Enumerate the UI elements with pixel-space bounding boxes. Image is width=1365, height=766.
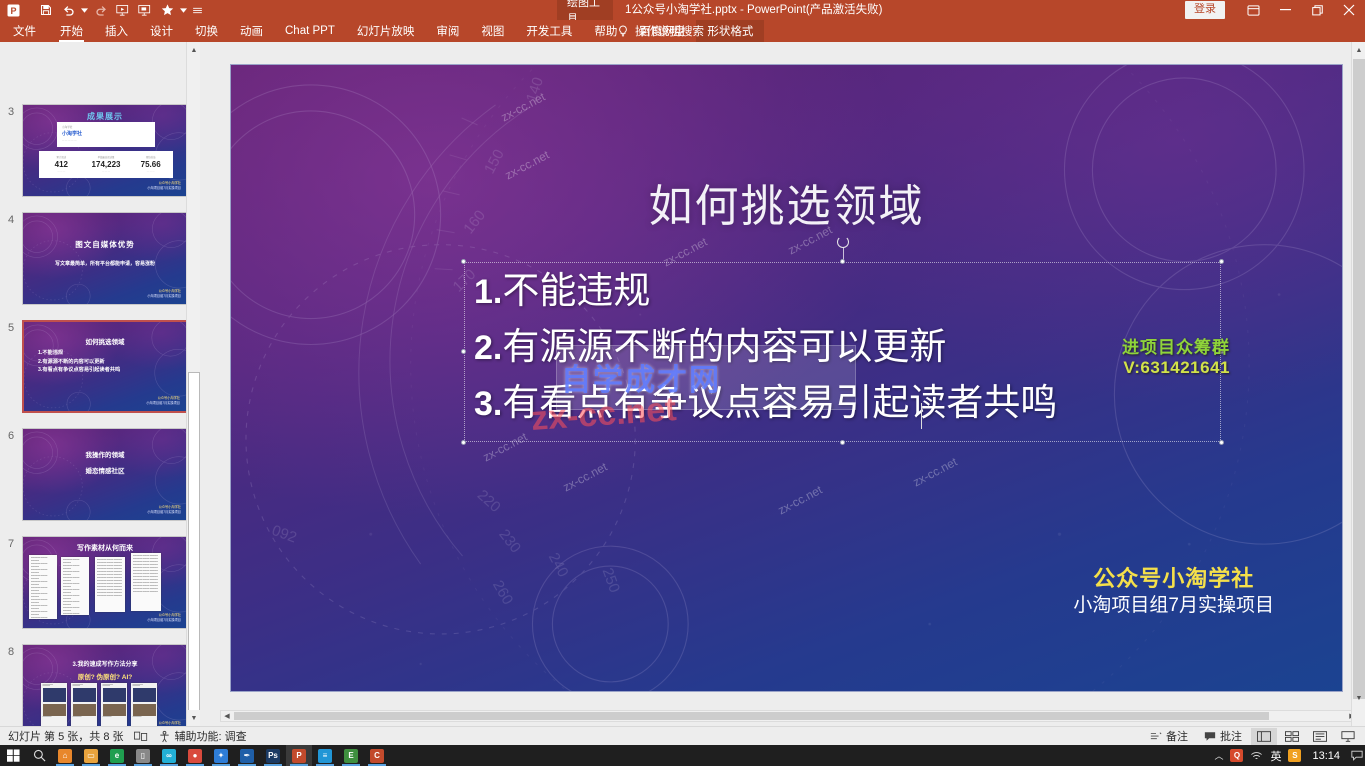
taskbar-item-photoshop-blue[interactable]: ✒ — [234, 745, 260, 766]
powerpoint-logo-icon: P — [6, 3, 21, 18]
svg-text:260: 260 — [489, 578, 516, 608]
slide-number: 5 — [0, 320, 22, 413]
thumb-title: 成果展示 — [23, 111, 187, 122]
favorite-dropdown-icon[interactable] — [179, 1, 188, 19]
taskbar-item-powerpoint[interactable]: P — [286, 745, 312, 766]
thumb-phone: ▬▬▬▬▬▬▬▬▬▬▬▬▬▬▬▬▬▬ — [101, 683, 127, 726]
slide-thumbnail-6[interactable]: 6我操作的领域婚恋情感社区公众号小淘学社小淘项目组7月实操项目 — [0, 428, 200, 521]
slide-bullet-number: 2. — [474, 329, 502, 367]
taskbar-item-browser-360[interactable]: ∞ — [156, 745, 182, 766]
slide-thumbnail-3[interactable]: 3成果展示小淘学社小淘学社— — — — —累计阅读412— — —单篇最高阅读… — [0, 104, 200, 197]
slide-edit-stage: 140 150 160 170 220 230 240 250 092 260 — [214, 42, 1365, 726]
thumb-line-2: 婚恋情感社区 — [23, 465, 187, 475]
thumb-title: 写作素材从何而来 — [23, 543, 187, 553]
slide-thumbnail-8[interactable]: 83.我的速成写作方法分享原创? 伪原创? AI?▬▬▬▬▬▬▬▬▬▬▬▬▬▬▬… — [0, 644, 200, 726]
status-bar-right: 备注 批注 — [1143, 727, 1361, 745]
thumb-brand: 公众号小淘学社小淘项目组7月实操项目 — [147, 289, 181, 299]
ribbon-display-options-icon[interactable] — [1237, 0, 1269, 20]
thumb-card: 小淘学社小淘学社— — — — — — [57, 122, 155, 147]
resize-handle-w[interactable] — [461, 349, 466, 354]
taskbar-item-edge[interactable]: e — [104, 745, 130, 766]
thumb-phone: ▬▬▬▬▬▬▬▬▬▬▬▬▬▬▬▬▬▬ — [71, 683, 97, 726]
watermark-promo-line2: V:631421641 — [1123, 358, 1230, 378]
status-bar-left: 幻灯片 第 5 张，共 8 张 辅助功能: 调查 — [0, 728, 247, 744]
minimize-icon[interactable] — [1269, 0, 1301, 20]
slideshow-view-button[interactable] — [1335, 728, 1361, 745]
thumbnail-scrollbar-thumb[interactable] — [188, 372, 200, 717]
sogou-icon[interactable]: S — [1288, 749, 1301, 762]
slide-number: 3 — [0, 104, 22, 197]
resize-handle-sw[interactable] — [461, 440, 466, 445]
scroll-down-arrow-icon[interactable]: ▼ — [187, 710, 200, 726]
ribbon-tab-7[interactable]: 幻灯片放映 — [346, 20, 426, 42]
comments-label: 批注 — [1220, 728, 1242, 744]
svg-text:092: 092 — [270, 522, 299, 547]
brand-line-2: 小淘项目组7月实操项目 — [1073, 593, 1274, 619]
brand-line-1: 公众号小淘学社 — [1073, 564, 1274, 594]
slide-number: 7 — [0, 536, 22, 629]
ribbon-tab-label: 视图 — [481, 23, 504, 39]
taskbar-item-security-icon: ⌂ — [58, 749, 72, 763]
thumb-phone: ▬▬▬▬▬▬▬▬▬▬▬▬▬▬▬▬▬▬ — [131, 683, 157, 726]
taskbar-item-wechat-dev[interactable]: ✦ — [208, 745, 234, 766]
undo-icon[interactable] — [58, 1, 78, 19]
search-icon[interactable] — [26, 745, 52, 766]
thumb-subtitle: 原创? 伪原创? AI? — [23, 671, 187, 681]
thumb-bullets: 1.不能违规2.有源源不断的内容可以更新3.有看点有争议点容易引起读者共鸣 — [38, 349, 120, 375]
slide-number: 8 — [0, 644, 22, 726]
horizontal-scrollbar-thumb[interactable] — [234, 712, 1269, 720]
taskbar-item-wps-doc[interactable]: C — [364, 745, 390, 766]
powerpoint-window: P — [0, 0, 1365, 766]
undo-dropdown-icon[interactable] — [80, 1, 89, 19]
ribbon-tab-label: 幻灯片放映 — [357, 23, 415, 39]
slide-number: 6 — [0, 428, 22, 521]
document-title: 1公众号小淘学社.pptx - PowerPoint(产品激活失败) — [625, 0, 883, 20]
ribbon-tab-4[interactable]: 切换 — [184, 20, 229, 42]
tell-me-search[interactable]: 操作说明搜索 — [617, 20, 704, 42]
ribbon-tab-label: 动画 — [240, 23, 263, 39]
slide-thumbnail-preview[interactable]: 3.我的速成写作方法分享原创? 伪原创? AI?▬▬▬▬▬▬▬▬▬▬▬▬▬▬▬▬… — [22, 644, 188, 726]
thumb-title: 如何挑选领域 — [24, 336, 186, 346]
ribbon-tab-0[interactable]: 文件 — [0, 20, 49, 42]
normal-view-button[interactable] — [1251, 728, 1277, 745]
close-icon[interactable] — [1333, 0, 1365, 20]
slideshow-from-current-icon[interactable] — [135, 1, 155, 19]
thumb-brand: 公众号小淘学社小淘项目组7月实操项目 — [147, 613, 181, 623]
notes-label: 备注 — [1166, 728, 1188, 744]
ribbon-tab-5[interactable]: 动画 — [229, 20, 274, 42]
slide-thumbnail-preview[interactable]: 写作素材从何而来▬▬▬▬▬▬ ▬▬▬▬ ▬▬▬▬▬▬▬▬▬▬▬ ▬▬▬▬ ▬▬▬… — [22, 536, 188, 629]
slide-scroll-up-icon[interactable]: ▲ — [1352, 42, 1365, 58]
thumb-stats-row: 累计阅读412— — —单篇最高阅读量174,223— — —预估收益75.66… — [39, 151, 173, 178]
ribbon-tab-3[interactable]: 设计 — [139, 20, 184, 42]
taskbar-item-wechat-dev-icon: ✦ — [214, 749, 228, 763]
title-bar: P — [0, 0, 1365, 20]
taskbar-item-security[interactable]: ⌂ — [52, 745, 78, 766]
accessibility-checker[interactable]: 辅助功能: 调查 — [158, 728, 247, 744]
ribbon-tab-1[interactable]: 开始 — [49, 20, 94, 42]
svg-text:P: P — [10, 6, 16, 16]
thumb-document: ▬▬▬▬▬▬ ▬▬▬▬ ▬▬▬▬▬▬▬▬▬▬▬ ▬▬▬▬ ▬▬▬▬▬▬▬▬▬▬▬… — [61, 557, 89, 615]
thumb-bullet: 3.有看点有争议点容易引起读者共鸣 — [38, 366, 120, 375]
svg-text:250: 250 — [599, 566, 624, 595]
slide-bullet-number: 3. — [474, 385, 502, 423]
ribbon-tab-label: 切换 — [195, 23, 218, 39]
slide-counter[interactable]: 幻灯片 第 5 张，共 8 张 — [8, 728, 124, 744]
ribbon-tab-label: 开发工具 — [526, 23, 572, 39]
text-cursor — [921, 403, 922, 429]
taskbar-item-photoshop-blue-icon: ✒ — [240, 749, 254, 763]
language-icon[interactable] — [134, 731, 148, 742]
taskbar-item-wps-writer-icon: ≡ — [318, 749, 332, 763]
tell-me-search-label: 操作说明搜索 — [635, 23, 704, 39]
slide-thumbnail-7[interactable]: 7写作素材从何而来▬▬▬▬▬▬ ▬▬▬▬ ▬▬▬▬▬▬▬▬▬▬▬ ▬▬▬▬ ▬▬… — [0, 536, 200, 629]
customize-quick-access-toolbar-icon[interactable] — [190, 1, 204, 19]
clock[interactable]: 13:14 — [1308, 750, 1344, 762]
pane-splitter[interactable] — [200, 42, 214, 726]
taskbar-item-usb-drive-icon: ▯ — [136, 749, 150, 763]
ribbon-tab-label: 设计 — [150, 23, 173, 39]
taskbar-item-chrome[interactable]: ● — [182, 745, 208, 766]
ribbon-tab-label: 开始 — [60, 23, 83, 39]
network-icon[interactable] — [1250, 750, 1263, 761]
thumb-document: ▬▬▬▬▬▬ ▬▬▬▬ ▬▬▬▬▬▬▬▬▬▬▬ ▬▬▬▬ ▬▬▬▬▬▬▬▬▬▬▬… — [95, 557, 125, 612]
ribbon-tab-label: 审阅 — [436, 23, 459, 39]
taskbar-item-photoshop[interactable]: Ps — [260, 745, 286, 766]
slide-title-text[interactable]: 如何挑选领域 — [231, 170, 1342, 234]
taskbar-item-photoshop-icon: Ps — [266, 749, 280, 763]
slide-bullet-number: 1. — [474, 273, 502, 311]
taskbar-item-powerpoint-icon: P — [292, 749, 306, 763]
ribbon-tab-6[interactable]: Chat PPT — [274, 20, 346, 42]
notifications-icon[interactable] — [1351, 750, 1363, 761]
slide-vertical-scrollbar[interactable]: ▲ ▼ — [1351, 42, 1365, 726]
thumb-subtitle: 写文章最简单，所有平台都能申请，容易涨粉 — [23, 260, 187, 267]
resize-handle-se[interactable] — [1219, 440, 1224, 445]
ribbon-tab-label: 形状格式 — [707, 23, 753, 39]
sign-in-button[interactable]: 登录 — [1185, 1, 1225, 18]
ribbon-tab-label: 文件 — [13, 23, 36, 39]
slide-bullet-line: 1.不能违规 — [474, 264, 1221, 320]
rotate-handle[interactable] — [837, 236, 849, 248]
taskbar-item-browser-360-icon: ∞ — [162, 749, 176, 763]
restore-icon[interactable] — [1301, 0, 1333, 20]
thumb-phone: ▬▬▬▬▬▬▬▬▬▬▬▬▬▬▬▬▬▬ — [41, 683, 67, 726]
slide-horizontal-scrollbar[interactable]: ◀ ▶ — [220, 710, 1359, 722]
ribbon-tab-8[interactable]: 审阅 — [425, 20, 470, 42]
taskbar-item-excel[interactable]: E — [338, 745, 364, 766]
system-tray: ︿ Q 英 S 13:14 — [1214, 748, 1363, 764]
thumb-bullet: 2.有源源不断的内容可以更新 — [38, 358, 120, 367]
slide-brand-block: 公众号小淘学社 小淘项目组7月实操项目 — [1073, 564, 1274, 619]
thumb-stat: 单篇最高阅读量174,223— — — — [84, 151, 129, 178]
slide-vertical-scrollbar-thumb[interactable] — [1353, 59, 1365, 699]
ribbon-tab-13[interactable]: 形状格式 — [696, 20, 764, 42]
current-slide-canvas[interactable]: 140 150 160 170 220 230 240 250 092 260 — [230, 64, 1343, 692]
start-slideshow-icon[interactable] — [113, 1, 133, 19]
thumb-bullet: 1.不能违规 — [38, 349, 120, 358]
windows-start-icon[interactable] — [0, 745, 26, 766]
taskbar-item-edge-icon: e — [110, 749, 124, 763]
ime-indicator[interactable]: 英 — [1270, 748, 1281, 764]
comments-button[interactable]: 批注 — [1197, 727, 1249, 745]
slide-thumbnail-preview[interactable]: 成果展示小淘学社小淘学社— — — — —累计阅读412— — —单篇最高阅读量… — [22, 104, 188, 197]
slide-bullet-text: 不能违规 — [502, 271, 650, 312]
slide-scroll-down-icon[interactable]: ▼ — [1352, 690, 1365, 706]
taskbar-item-usb-drive[interactable]: ▯ — [130, 745, 156, 766]
scroll-left-arrow-icon[interactable]: ◀ — [221, 711, 233, 721]
ribbon-tab-9[interactable]: 视图 — [470, 20, 515, 42]
ribbon-tab-label: 插入 — [105, 23, 128, 39]
chevron-up-icon[interactable]: ︿ — [1214, 749, 1223, 762]
thumb-brand: 公众号小淘学社小淘项目组7月实操项目 — [146, 396, 180, 406]
qq-penguin-icon[interactable]: Q — [1230, 749, 1243, 762]
thumb-title: 3.我的速成写作方法分享 — [23, 659, 187, 668]
ribbon-tab-label: 帮助 — [594, 23, 617, 39]
slide-thumbnail-preview[interactable]: 我操作的领域婚恋情感社区公众号小淘学社小淘项目组7月实操项目 — [22, 428, 188, 521]
thumb-stat: 累计阅读412— — — — [39, 151, 84, 178]
taskbar-item-chrome-icon: ● — [188, 749, 202, 763]
quick-access-toolbar — [36, 0, 204, 20]
thumb-stat: 预估收益75.66— — — — [128, 151, 173, 178]
ribbon-tab-label: Chat PPT — [285, 25, 335, 37]
slide-number: 4 — [0, 212, 22, 305]
scroll-up-arrow-icon[interactable]: ▲ — [187, 42, 200, 58]
svg-text:220: 220 — [474, 487, 504, 516]
redo-icon[interactable] — [91, 1, 111, 19]
slide-thumbnail-preview[interactable]: 如何挑选领域1.不能违规2.有源源不断的内容可以更新3.有看点有争议点容易引起读… — [22, 320, 188, 413]
resize-handle-nw[interactable] — [461, 259, 466, 264]
save-icon[interactable] — [36, 1, 56, 19]
slide-thumbnail-5[interactable]: 5如何挑选领域1.不能违规2.有源源不断的内容可以更新3.有看点有争议点容易引起… — [0, 320, 200, 413]
slide-thumbnail-pane[interactable]: 3成果展示小淘学社小淘学社— — — — —累计阅读412— — —单篇最高阅读… — [0, 42, 200, 726]
ribbon-tab-2[interactable]: 插入 — [94, 20, 139, 42]
slide-sorter-view-button[interactable] — [1279, 728, 1305, 745]
lightbulb-icon — [617, 25, 629, 37]
thumb-brand: 公众号小淘学社小淘项目组7月实操项目 — [147, 505, 181, 515]
resize-handle-s[interactable] — [840, 440, 845, 445]
favorite-icon[interactable] — [157, 1, 177, 19]
slide-thumbnail-preview[interactable]: 图文自媒体优势写文章最简单，所有平台都能申请，容易涨粉公众号小淘学社小淘项目组7… — [22, 212, 188, 305]
contextual-tab-group-drawing-tools: 绘图工具 — [557, 0, 613, 20]
window-controls: 登录 — [1185, 0, 1365, 20]
thumb-title: 图文自媒体优势 — [23, 239, 187, 250]
watermark-promo-line1: 进项目众筹群 — [1122, 333, 1230, 358]
accessibility-label: 辅助功能: 调查 — [175, 728, 247, 744]
reading-view-button[interactable] — [1307, 728, 1333, 745]
workspace: 3成果展示小淘学社小淘学社— — — — —累计阅读412— — —单篇最高阅读… — [0, 42, 1365, 726]
thumb-document: ▬▬▬▬▬▬ ▬▬▬▬ ▬▬▬▬▬▬▬▬▬▬▬ ▬▬▬▬ ▬▬▬▬▬▬▬▬▬▬▬… — [29, 555, 57, 619]
taskbar-item-file-explorer-icon: ▭ — [84, 749, 98, 763]
thumbnail-pane-scrollbar[interactable]: ▲ ▼ — [186, 42, 200, 726]
thumb-title: 我操作的领域 — [23, 449, 187, 459]
svg-text:230: 230 — [495, 526, 524, 556]
thumb-brand: 公众号小淘学社小淘项目组7月实操项目 — [147, 181, 181, 191]
status-bar: 幻灯片 第 5 张，共 8 张 辅助功能: 调查 备注 批注 — [0, 726, 1365, 745]
taskbar-item-excel-icon: E — [344, 749, 358, 763]
notes-button[interactable]: 备注 — [1143, 727, 1195, 745]
thumb-document: ▬▬▬▬▬▬ ▬▬▬▬ ▬▬▬▬▬▬▬▬▬▬▬ ▬▬▬▬ ▬▬▬▬▬▬▬▬▬▬▬… — [131, 553, 161, 611]
taskbar-item-wps-doc-icon: C — [370, 749, 384, 763]
ribbon-tab-bar: 文件开始插入设计切换动画Chat PPT幻灯片放映审阅视图开发工具帮助百度网盘形… — [0, 20, 1365, 42]
ribbon-tab-10[interactable]: 开发工具 — [515, 20, 583, 42]
windows-taskbar: ⌂▭e▯∞●✦✒PsP≡EC ︿ Q 英 S 13:14 — [0, 745, 1365, 766]
taskbar-item-wps-writer[interactable]: ≡ — [312, 745, 338, 766]
slide-thumbnail-4[interactable]: 4图文自媒体优势写文章最简单，所有平台都能申请，容易涨粉公众号小淘学社小淘项目组… — [0, 212, 200, 305]
taskbar-item-file-explorer[interactable]: ▭ — [78, 745, 104, 766]
